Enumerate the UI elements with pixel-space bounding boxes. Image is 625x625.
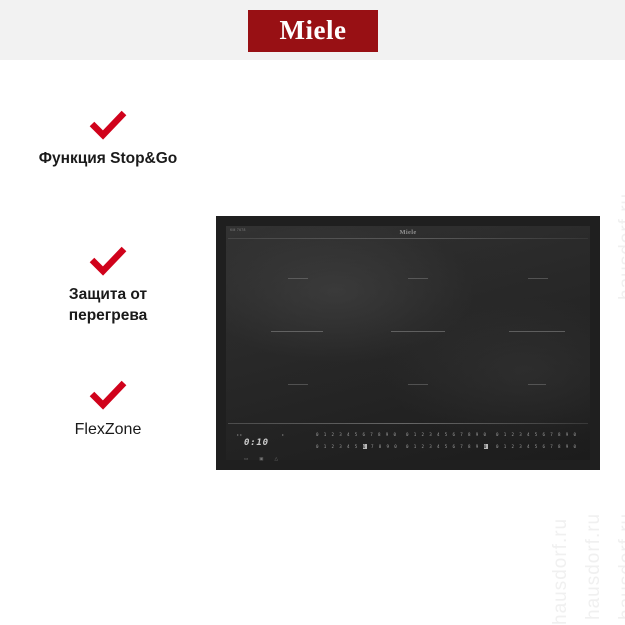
zone-marker [288, 278, 308, 279]
feature-item-stop-and-go: Функция Stop&Go [0, 110, 216, 170]
feature-spacer [0, 170, 216, 246]
cooktop-glass-surface [226, 226, 590, 460]
zone-marker [528, 384, 546, 385]
feature-item-overheat-protection: Защита от перегрева [0, 246, 216, 327]
timer-display-group[interactable]: ▸ ▸ 0:10 ▸ ▭ ▣ △ [244, 432, 296, 462]
slider-row[interactable]: 0 1 2 3 4 5 6 7 8 9 0 [496, 433, 582, 437]
feature-label: Функция Stop&Go [0, 140, 216, 170]
feature-item-flexzone: FlexZone [0, 380, 216, 441]
zone-slider-left[interactable]: 0 1 2 3 4 5 6 7 8 9 0 0 1 2 3 4 5 6 7 8 … [316, 433, 402, 449]
induction-cooktop-image: KM 7678 Miele ▸ ▸ 0:10 ▸ ▭ ▣ △ 0 1 2 3 4… [216, 216, 600, 470]
zone-marker [288, 384, 308, 385]
feature-list: Функция Stop&Go Защита от перегрева Flex… [0, 110, 216, 440]
slider-row[interactable]: 0 1 2 3 4 5 6 7 8 9 0 [316, 433, 402, 437]
timer-readout: 0:10 [244, 438, 269, 448]
slider-row[interactable]: 0 1 2 3 4 5 6 7 8 9 0 [496, 445, 582, 449]
cooktop-brand-mark: Miele [216, 229, 600, 236]
zone-marker [391, 331, 445, 332]
watermark: hausdorf.ru [550, 518, 572, 625]
zone-marker [509, 331, 565, 332]
timer-indicator-right: ▸ [282, 433, 284, 437]
cooktop-top-edge [228, 238, 588, 239]
zone-marker [271, 331, 323, 332]
feature-spacer [0, 327, 216, 380]
feature-label: Защита от перегрева [0, 276, 216, 327]
miele-logo: Miele [248, 10, 378, 52]
slider-row[interactable]: 0 1 2 3 4 5 6 7 8 9 0 [406, 445, 492, 449]
check-icon [88, 110, 128, 140]
warning-icon[interactable]: △ [275, 457, 278, 462]
zone-slider-center[interactable]: 0 1 2 3 4 5 6 7 8 9 0 0 1 2 3 4 5 6 7 8 … [406, 433, 492, 449]
slider-row[interactable]: 0 1 2 3 4 5 6 7 8 9 0 [406, 433, 492, 437]
timer-icon-row[interactable]: ▭ ▣ △ [244, 457, 296, 462]
zone-marker [408, 384, 428, 385]
timer-indicator-left: ▸ ▸ [237, 433, 242, 437]
control-panel-divider [228, 423, 588, 424]
check-icon [88, 246, 128, 276]
watermark: hausdorf.ru [616, 513, 625, 620]
header-band: Miele [0, 0, 625, 60]
zone-marker [408, 278, 428, 279]
pause-icon[interactable]: ▣ [259, 457, 263, 462]
miele-logo-text: Miele [280, 17, 347, 46]
control-panel: ▸ ▸ 0:10 ▸ ▭ ▣ △ 0 1 2 3 4 5 6 7 8 9 0 0… [228, 428, 588, 468]
slider-row[interactable]: 0 1 2 3 4 5 6 7 8 9 0 [316, 445, 402, 449]
watermark: hausdorf.ru [616, 193, 625, 300]
check-icon [88, 380, 128, 410]
watermark: hausdorf.ru [583, 513, 605, 620]
zone-slider-right[interactable]: 0 1 2 3 4 5 6 7 8 9 0 0 1 2 3 4 5 6 7 8 … [496, 433, 582, 449]
feature-label: FlexZone [0, 410, 216, 441]
timer-icon[interactable]: ▭ [244, 457, 248, 462]
zone-marker [528, 278, 548, 279]
